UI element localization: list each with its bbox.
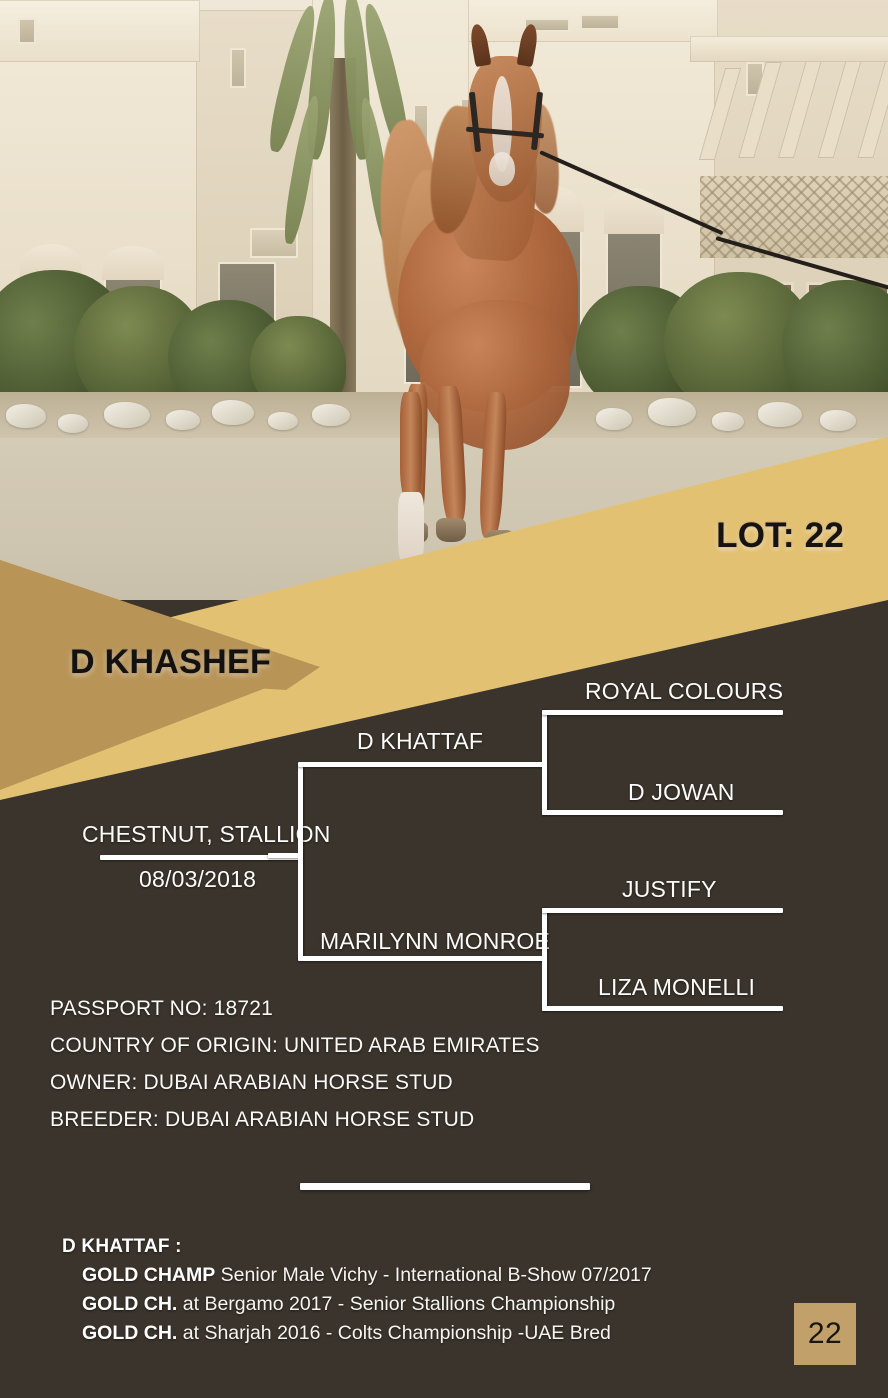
sire-line xyxy=(298,762,546,767)
achievements-title: D KHATTAF : xyxy=(62,1236,652,1258)
catalog-page: LOT: 22 D KHASHEF CHESTNUT, STALLION 08/… xyxy=(0,0,888,1398)
achievement-detail: Senior Male Vichy - International B-Show… xyxy=(215,1264,651,1286)
pedigree-split-vertical xyxy=(298,766,303,960)
sire-dam-name: D JOWAN xyxy=(628,779,735,806)
achievements-list: GOLD CHAMP Senior Male Vichy - Internati… xyxy=(62,1261,652,1348)
horse-hoof xyxy=(436,518,466,542)
dam-dam-line xyxy=(542,1006,783,1011)
achievement-row: GOLD CH. at Sharjah 2016 - Colts Champio… xyxy=(82,1319,652,1348)
horse-ear-left xyxy=(468,23,491,67)
sire-name: D KHATTAF xyxy=(357,728,483,755)
achievement-detail: at Sharjah 2016 - Colts Championship -UA… xyxy=(177,1322,611,1344)
horse-muzzle xyxy=(489,152,515,186)
sire-dam-line xyxy=(542,810,783,815)
achievement-row: GOLD CH. at Bergamo 2017 - Senior Stalli… xyxy=(82,1290,652,1319)
pedigree-trunk-line xyxy=(268,853,302,858)
dam-dam-name: LIZA MONELLI xyxy=(598,974,755,1001)
achievement-award: GOLD CH. xyxy=(82,1322,177,1344)
achievement-detail: at Bergamo 2017 - Senior Stallions Champ… xyxy=(177,1293,615,1315)
achievement-award: GOLD CH. xyxy=(82,1293,177,1315)
subject-dob: 08/03/2018 xyxy=(139,866,256,893)
lot-label: LOT: 22 xyxy=(716,516,844,556)
lead-rope xyxy=(715,236,888,292)
sire-parents-vertical xyxy=(542,710,547,815)
sire-sire-name: ROYAL COLOURS xyxy=(585,678,783,705)
achievements-section: D KHATTAF : GOLD CHAMP Senior Male Vichy… xyxy=(62,1236,652,1348)
lot-number-text: 22 xyxy=(808,1317,842,1351)
subject-color-sex: CHESTNUT, STALLION xyxy=(82,821,331,848)
dam-parents-vertical xyxy=(542,908,547,1011)
horse-leg-front-left xyxy=(400,392,422,500)
section-divider xyxy=(300,1183,590,1190)
achievement-row: GOLD CHAMP Senior Male Vichy - Internati… xyxy=(82,1261,652,1290)
dam-name: MARILYNN MONROE xyxy=(320,928,550,955)
horse-name-title: D KHASHEF xyxy=(70,643,271,682)
country-of-origin: COUNTRY OF ORIGIN: UNITED ARAB EMIRATES xyxy=(50,1027,540,1064)
horse-ear-right xyxy=(516,23,539,67)
owner: OWNER: DUBAI ARABIAN HORSE STUD xyxy=(50,1064,540,1101)
lead-rope xyxy=(539,150,723,235)
dam-sire-name: JUSTIFY xyxy=(622,876,717,903)
lot-number-badge: 22 xyxy=(794,1303,856,1365)
dam-line xyxy=(298,956,546,961)
achievement-award: GOLD CHAMP xyxy=(82,1264,215,1286)
breeder: BREEDER: DUBAI ARABIAN HORSE STUD xyxy=(50,1101,540,1138)
sire-sire-line xyxy=(542,710,783,715)
passport-number: PASSPORT NO: 18721 xyxy=(50,990,540,1027)
registration-info: PASSPORT NO: 18721 COUNTRY OF ORIGIN: UN… xyxy=(50,990,540,1138)
dam-sire-line xyxy=(542,908,783,913)
